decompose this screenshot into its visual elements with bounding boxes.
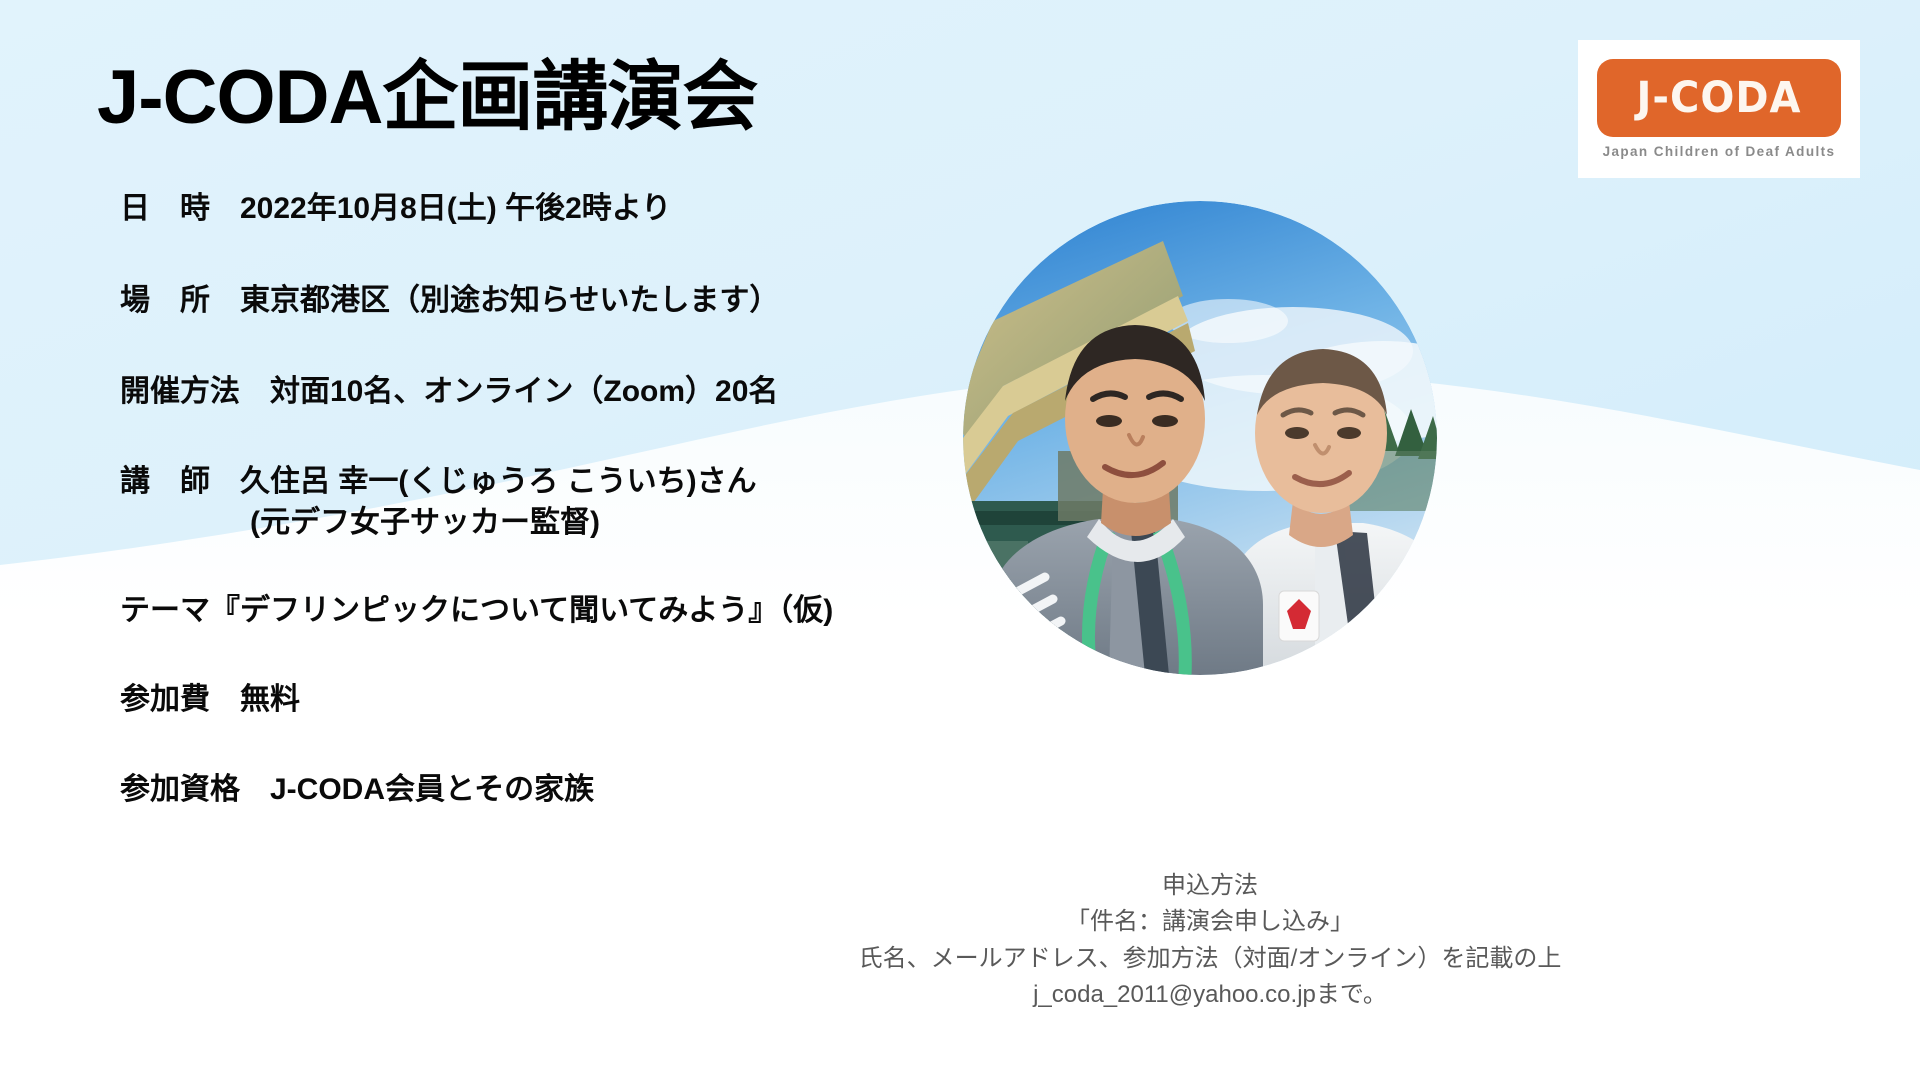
application-email-line: j_coda_2011@yahoo.co.jpまで。: [820, 977, 1600, 1013]
application-line-1: 申込方法: [820, 868, 1600, 904]
j-coda-logo: J-CODA Japan Children of Deaf Adults: [1578, 40, 1860, 178]
event-details-list: 日 時 2022年10月8日(土) 午後2時より 場 所 東京都港区（別途お知ら…: [120, 190, 980, 808]
detail-row-speaker: 講 師 久住呂 幸一(くじゅうろ こういち)さん: [120, 463, 980, 501]
detail-row-venue: 場 所 東京都港区（別途お知らせいたします）: [120, 282, 980, 320]
detail-row-eligibility: 参加資格 J-CODA会員とその家族: [120, 771, 980, 809]
detail-row-fee: 参加費 無料: [120, 681, 980, 719]
logo-badge-text: J-CODA: [1636, 74, 1801, 123]
application-instructions: 申込方法 「件名：講演会申し込み」 氏名、メールアドレス、参加方法（対面/オンラ…: [820, 868, 1600, 1014]
application-line-3: 氏名、メールアドレス、参加方法（対面/オンライン）を記載の上: [820, 941, 1600, 977]
detail-row-datetime: 日 時 2022年10月8日(土) 午後2時より: [120, 190, 980, 228]
speaker-photo-illustration: [963, 201, 1437, 675]
logo-subtitle: Japan Children of Deaf Adults: [1603, 144, 1836, 159]
detail-row-theme: テーマ『デフリンピックについて聞いてみよう』（仮): [120, 592, 980, 630]
detail-row-format: 開催方法 対面10名、オンライン（Zoom）20名: [120, 373, 980, 411]
detail-row-speaker-title: (元デフ女子サッカー監督): [120, 504, 980, 542]
logo-badge: J-CODA: [1597, 59, 1841, 137]
page-title: J-CODA企画講演会: [97, 58, 757, 138]
application-line-2: 「件名：講演会申し込み」: [820, 904, 1600, 940]
slide-canvas: J-CODA企画講演会 J-CODA Japan Children of Dea…: [0, 0, 1920, 1080]
speaker-photo: [963, 201, 1437, 675]
